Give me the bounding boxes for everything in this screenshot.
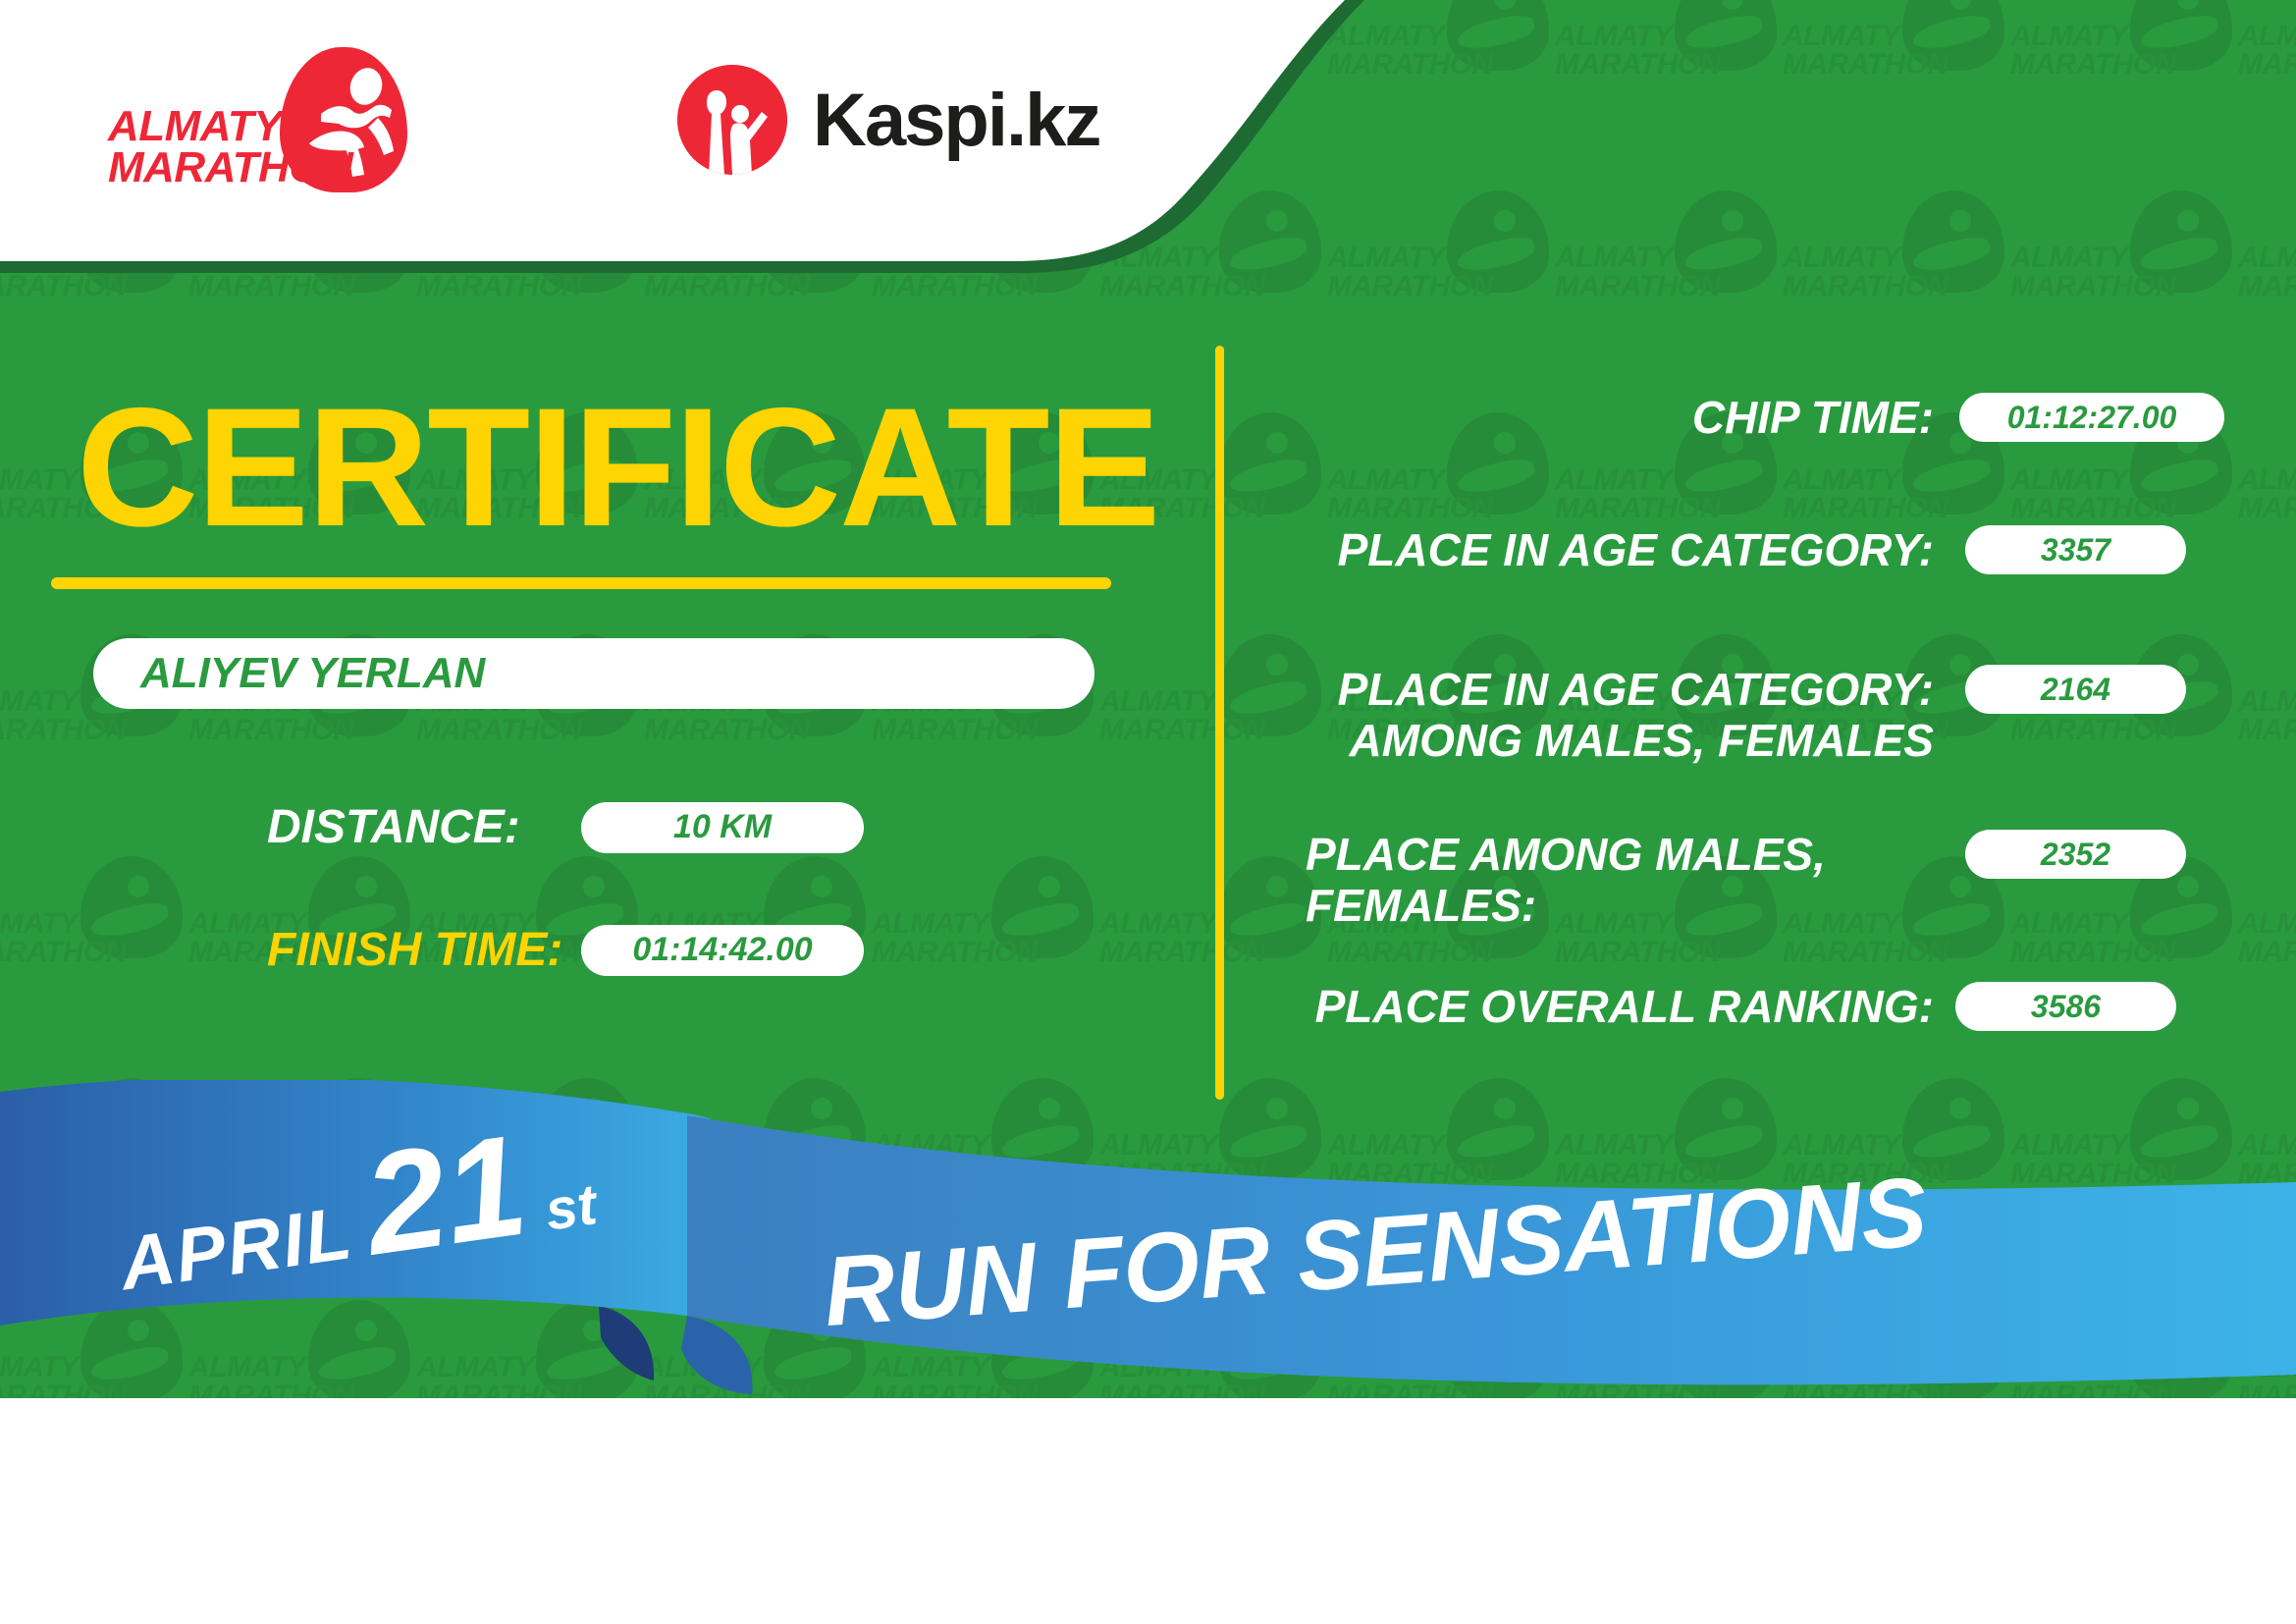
certificate-page: ALMATYMARATHONALMATYMARATHONALMATYMARATH… [0, 0, 2296, 1624]
watermark-text: ALMATYMARATHON [2238, 909, 2296, 967]
label-line-2: FEMALES: [1306, 881, 1934, 932]
watermark-text: ALMATYMARATHON [1327, 465, 1474, 523]
place-among-males-females-row: PLACE AMONG MALES, FEMALES: 2352 [1306, 830, 2186, 931]
marathon-line: MARATHON [108, 147, 352, 189]
distance-row: DISTANCE: 10 KM [267, 800, 864, 854]
place-overall-ranking-label: PLACE OVERALL RANKING: [1306, 982, 1934, 1033]
label-line-2: AMONG MALES, FEMALES [1306, 716, 1934, 767]
place-age-category-among-label: PLACE IN AGE CATEGORY: AMONG MALES, FEMA… [1306, 665, 1934, 766]
watermark-text: ALMATYMARATHON [1783, 465, 1930, 523]
finish-time-row: FINISH TIME: 01:14:42.00 [267, 923, 864, 977]
watermark-text: ALMATYMARATHON [2238, 465, 2296, 523]
watermark-tile: ALMATYMARATHON [2238, 626, 2296, 848]
distance-value: 10 KM [581, 802, 864, 853]
chip-time-row: CHIP TIME: 01:12:27.00 [1306, 393, 2224, 444]
kaspi-people-circle-icon [677, 65, 787, 175]
watermark-tile: ALMATYMARATHON [1099, 848, 1327, 1070]
watermark-tile: ALMATYMARATHON [0, 848, 188, 1070]
place-among-males-females-value: 2352 [1965, 830, 2186, 879]
watermark-text: ALMATYMARATHON [1555, 465, 1702, 523]
place-age-category-among-value: 2164 [1965, 665, 2186, 714]
kaspi-logo: Kaspi.kz [677, 61, 1099, 179]
header-logos: ALMATY MARATHON Kaspi.kz [0, 0, 1178, 285]
participant-name-field: ALIYEV YERLAN [93, 638, 1095, 709]
distance-label: DISTANCE: [267, 800, 581, 854]
kaspi-wordmark: Kaspi.kz [813, 78, 1099, 163]
page-title: CERTIFICATE [77, 383, 1158, 552]
watermark-text: ALMATYMARATHON [0, 687, 108, 745]
participant-name-value: ALIYEV YERLAN [140, 649, 485, 698]
vertical-divider [1215, 346, 1224, 1100]
place-overall-ranking-row: PLACE OVERALL RANKING: 3586 [1306, 982, 2176, 1033]
watermark-text: ALMATYMARATHON [2010, 465, 2158, 523]
watermark-tile: ALMATYMARATHON [2238, 848, 2296, 1070]
watermark-text: ALMATYMARATHON [2238, 687, 2296, 745]
watermark-tile: ALMATYMARATHON [1099, 626, 1327, 848]
chip-time-label: CHIP TIME: [1306, 393, 1934, 444]
finish-time-label: FINISH TIME: [267, 923, 581, 977]
watermark-tile: ALMATYMARATHON [2238, 405, 2296, 626]
sponsor-bar: Sulpak SANOFI Empowering Life ORIFLAME S… [0, 1404, 2296, 1624]
event-day-ordinal: st [541, 1171, 600, 1244]
chip-time-value: 01:12:27.00 [1959, 393, 2224, 442]
watermark-text: ALMATYMARATHON [872, 909, 1019, 967]
title-underline-divider [51, 577, 1111, 589]
event-day: 21 [358, 1127, 532, 1263]
place-age-category-among-row: PLACE IN AGE CATEGORY: AMONG MALES, FEMA… [1306, 665, 2186, 766]
place-age-category-value: 3357 [1965, 525, 2186, 574]
almaty-marathon-logo: ALMATY MARATHON [108, 47, 432, 194]
label-line-1: PLACE AMONG MALES, [1306, 830, 1934, 881]
almaty-line: ALMATY [108, 106, 352, 147]
place-among-males-females-label: PLACE AMONG MALES, FEMALES: [1306, 830, 1934, 931]
finish-time-value: 01:14:42.00 [581, 925, 864, 976]
place-overall-ranking-value: 3586 [1955, 982, 2176, 1031]
place-age-category-label: PLACE IN AGE CATEGORY: [1306, 525, 1934, 576]
watermark-tile: ALMATYMARATHON [872, 848, 1099, 1070]
watermark-text: ALMATYMARATHON [1099, 687, 1247, 745]
place-age-category-row: PLACE IN AGE CATEGORY: 3357 [1306, 525, 2186, 576]
label-line-1: PLACE IN AGE CATEGORY: [1306, 665, 1934, 716]
watermark-text: ALMATYMARATHON [1099, 909, 1247, 967]
watermark-text: ALMATYMARATHON [0, 909, 108, 967]
almaty-marathon-wordmark: ALMATY MARATHON [108, 106, 352, 189]
